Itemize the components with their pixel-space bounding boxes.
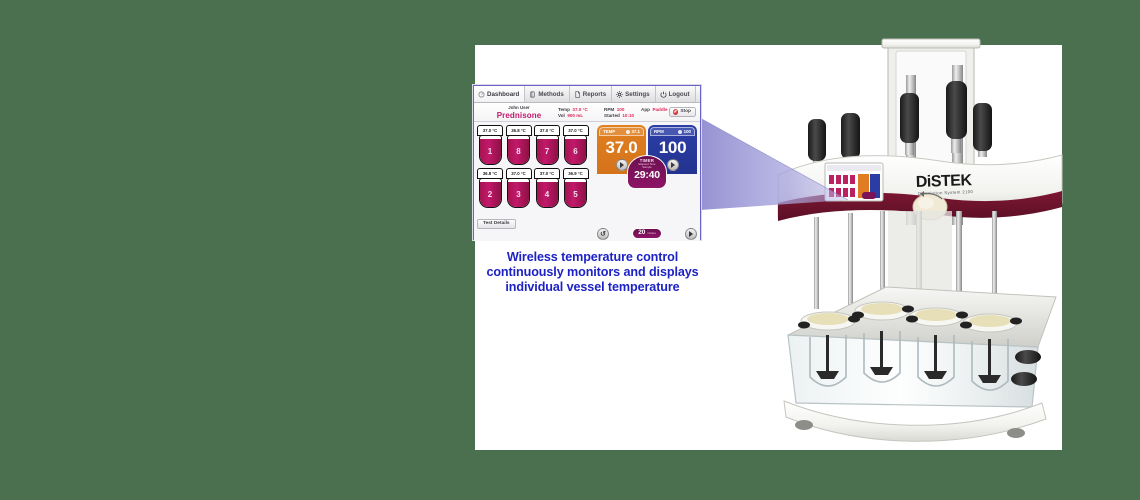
app-label: App <box>641 107 650 113</box>
vessel-6[interactable]: 37.0 °C 6 <box>563 125 589 165</box>
speed-unit: minutes <box>647 232 655 235</box>
caption-text: Wireless temperature control continuousl… <box>475 250 710 295</box>
vessel-8-number: 8 <box>516 147 520 156</box>
vol-label: Vol <box>558 113 565 119</box>
vessel-7-number: 7 <box>545 147 549 156</box>
vessel-2[interactable]: 36.8 °C 2 <box>477 168 503 208</box>
tab-methods-label: Methods <box>538 91 563 98</box>
rpm-increase-button[interactable] <box>667 159 679 171</box>
rpm-gauge-title: RPM <box>654 129 664 134</box>
caption-line-3: individual vessel temperature <box>475 280 710 295</box>
tab-settings-label: Settings <box>625 91 649 98</box>
drug-name: Prednisone <box>486 111 552 121</box>
vol-value: 900 mL <box>567 113 583 119</box>
play-icon <box>689 231 693 237</box>
vessel-1[interactable]: 37.0 °C 1 <box>477 125 503 165</box>
tab-dashboard-label: Dashboard <box>487 91 519 98</box>
reset-button[interactable]: ↺ <box>597 228 609 240</box>
apparatus-svg: DiSTEK Dissolution System 2100 <box>770 35 1070 455</box>
tab-settings[interactable]: Settings <box>612 86 655 102</box>
timer-value: 29:40 <box>628 169 666 181</box>
temp-gauge-setpoint: 37.1 <box>631 129 640 134</box>
setpoint-icon <box>626 130 630 134</box>
vessel-grid: 37.0 °C 1 36.8 °C 8 37.0 °C 7 37.0 °C 6 <box>477 125 594 241</box>
gauge-icon <box>478 91 485 98</box>
projection-beam <box>700 118 850 228</box>
vessel-8[interactable]: 36.8 °C 8 <box>506 125 532 165</box>
vessel-6-temp: 37.0 °C <box>563 125 589 136</box>
vessel-3[interactable]: 37.0 °C 3 <box>506 168 532 208</box>
tab-methods[interactable]: Methods <box>525 86 569 102</box>
rpm-gauge-setpoint: 100 <box>684 129 691 134</box>
speed-pill[interactable]: 20 minutes <box>632 228 662 239</box>
book-icon <box>529 91 536 98</box>
speed-value: 20 <box>638 230 645 237</box>
setpoint-icon <box>678 130 682 134</box>
started-label: Started <box>604 113 620 119</box>
dashboard-screenshot: Dashboard Methods Reports Settings <box>473 85 701 240</box>
page-root: DiSTEK Dissolution System 2100 <box>0 0 1140 500</box>
next-button[interactable] <box>685 228 697 240</box>
tab-reports[interactable]: Reports <box>570 86 612 102</box>
tab-dashboard[interactable]: Dashboard <box>474 86 525 102</box>
vessel-1-number: 1 <box>488 147 492 156</box>
vessel-2-temp: 36.8 °C <box>477 168 503 179</box>
test-details-button[interactable]: Test Details <box>477 219 516 229</box>
vessel-7[interactable]: 37.0 °C 7 <box>534 125 560 165</box>
vessel-row-top: 37.0 °C 1 36.8 °C 8 37.0 °C 7 37.0 °C 6 <box>477 125 594 165</box>
power-icon <box>660 91 667 98</box>
temp-gauge-title: TEMP <box>603 129 615 134</box>
test-info-bar: John User Prednisone Temp37.0 °C Vol900 … <box>474 103 700 122</box>
vessel-row-bottom: 36.8 °C 2 37.0 °C 3 37.0 °C 4 36.9 °C 5 <box>477 168 594 208</box>
vessel-8-temp: 36.8 °C <box>506 125 532 136</box>
rpm-gauge-value: 100 <box>648 136 697 159</box>
gear-icon <box>616 91 623 98</box>
vessel-4-number: 4 <box>545 190 549 199</box>
tab-bar: Dashboard Methods Reports Settings <box>474 86 700 103</box>
vessel-1-temp: 37.0 °C <box>477 125 503 136</box>
vessel-3-number: 3 <box>516 190 520 199</box>
vessel-5-number: 5 <box>573 190 577 199</box>
vessel-7-temp: 37.0 °C <box>534 125 560 136</box>
dashboard-body: 37.0 °C 1 36.8 °C 8 37.0 °C 7 37.0 °C 6 <box>474 122 700 241</box>
vessel-4-temp: 37.0 °C <box>534 168 560 179</box>
timer-display[interactable]: TIMER Elapsed Time Sample 29:40 <box>627 155 667 189</box>
stop-icon <box>673 109 679 115</box>
temp-increase-button[interactable] <box>616 159 628 171</box>
tab-logout-label: Logout <box>669 91 690 98</box>
vessel-2-number: 2 <box>488 190 492 199</box>
gauge-bottom-bar: ↺ 20 minutes <box>597 226 697 241</box>
gauge-panel: TEMP 37.1 37.0 RPM 100 100 <box>597 125 697 241</box>
play-icon <box>620 162 624 168</box>
vessel-6-number: 6 <box>573 147 577 156</box>
document-icon <box>574 91 581 98</box>
vessel-4[interactable]: 37.0 °C 4 <box>534 168 560 208</box>
dissolution-apparatus-photo: DiSTEK Dissolution System 2100 <box>770 35 1070 455</box>
started-value: 10:10 <box>622 113 634 119</box>
app-value: Paddle <box>652 107 667 113</box>
play-icon <box>671 162 675 168</box>
distek-logo: DiSTEK Dissolution System 2100 <box>916 172 974 196</box>
tab-logout[interactable]: Logout <box>656 86 696 102</box>
stop-button-label: Stop <box>680 109 691 114</box>
vessel-5-temp: 36.9 °C <box>563 168 589 179</box>
vessel-5[interactable]: 36.9 °C 5 <box>563 168 589 208</box>
stop-button[interactable]: Stop <box>669 107 696 118</box>
tab-reports-label: Reports <box>583 91 606 98</box>
caption-line-2: continuously monitors and displays <box>475 265 710 280</box>
vessel-3-temp: 37.0 °C <box>506 168 532 179</box>
caption-line-1: Wireless temperature control <box>475 250 710 265</box>
svg-text:DiSTEK: DiSTEK <box>916 172 973 191</box>
